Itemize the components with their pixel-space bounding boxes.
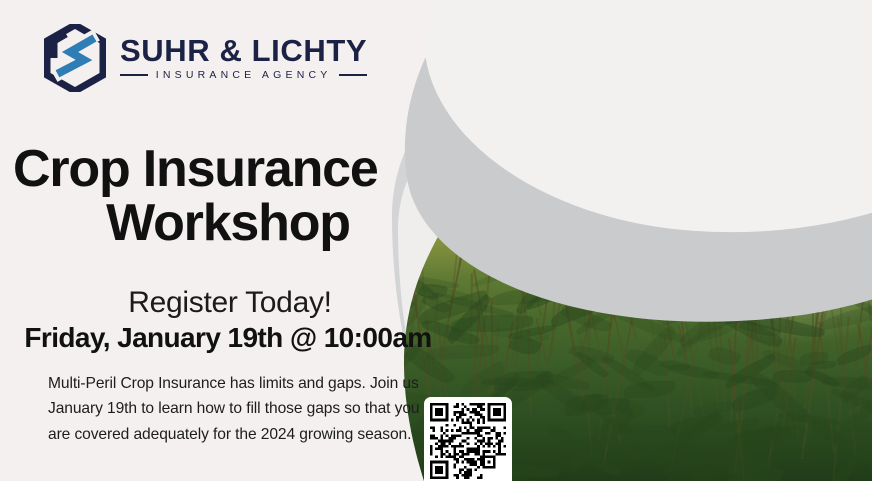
headline-line-1: Crop Insurance: [13, 140, 378, 198]
body-paragraph: Multi-Peril Crop Insurance has limits an…: [48, 371, 420, 447]
rule-right: [339, 74, 367, 76]
brand-name: SUHR & LICHTY: [120, 35, 367, 66]
hexagon-s-icon: [44, 24, 106, 92]
crop-insurance-workshop-flyer: SUHR & LICHTY INSURANCE AGENCY Crop Insu…: [0, 0, 872, 481]
register-text: Register Today!: [0, 286, 460, 320]
event-dateline: Friday, January 19th @ 10:00am: [0, 322, 456, 354]
brand-subtitle: INSURANCE AGENCY: [156, 69, 332, 81]
page-title: Crop Insurance Workshop: [13, 143, 443, 250]
registration-qr-code[interactable]: [424, 397, 512, 481]
brand-logo: SUHR & LICHTY INSURANCE AGENCY: [44, 24, 367, 92]
qr-code-image: [430, 403, 506, 479]
brand-subtitle-row: INSURANCE AGENCY: [120, 69, 367, 81]
brand-wordmark: SUHR & LICHTY INSURANCE AGENCY: [120, 35, 367, 81]
headline-line-2: Workshop: [13, 197, 443, 251]
rule-left: [120, 74, 148, 76]
